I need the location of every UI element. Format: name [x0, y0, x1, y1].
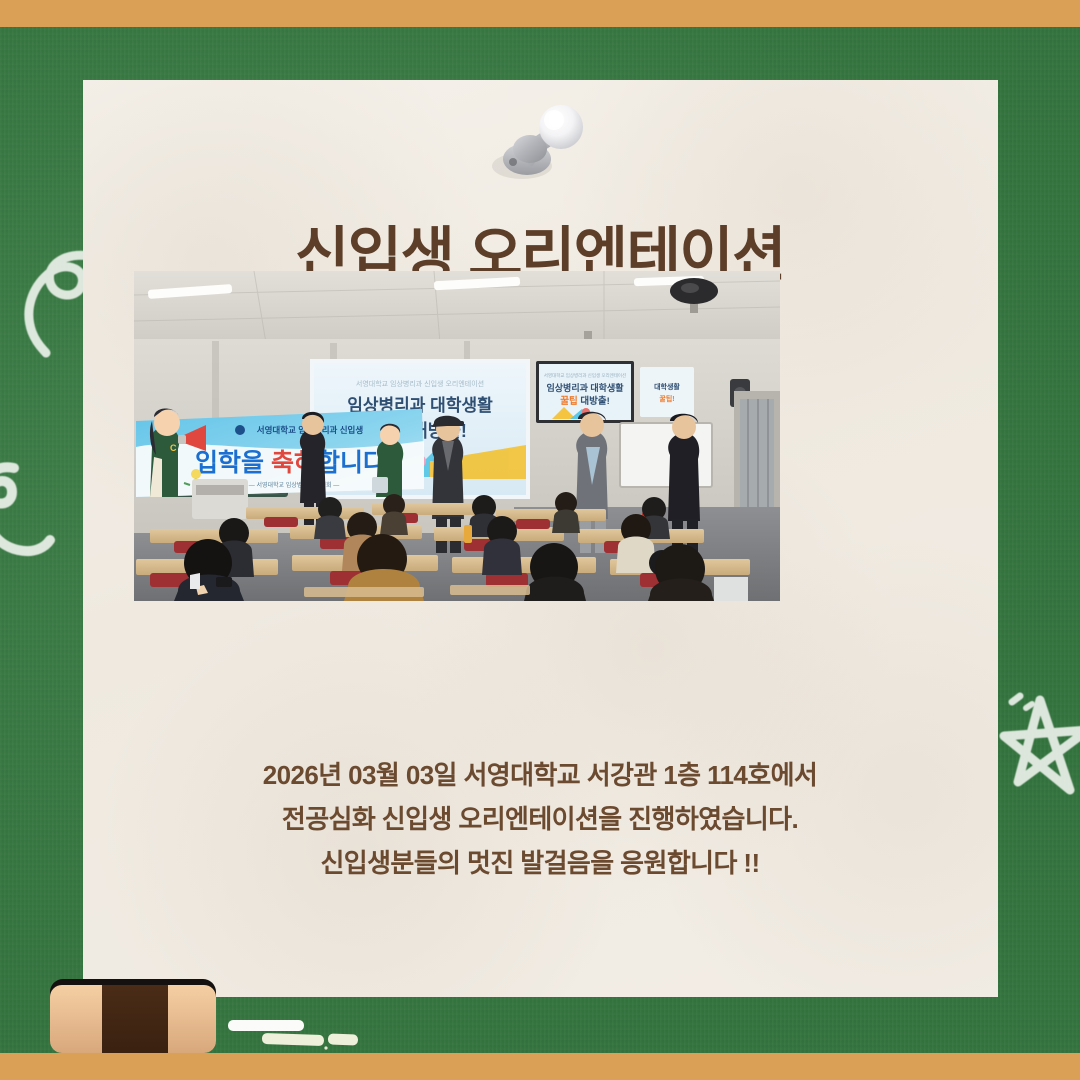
event-photo: 서영대학교 임상병리과 신입생 오리엔테이션 임상병리과 대학생활 꿀팁 대방출… — [134, 271, 780, 601]
svg-text:꿀팁!: 꿀팁! — [659, 394, 674, 403]
top-accent-bar — [0, 0, 1080, 27]
caption-line-3: 신입생분들의 멋진 발걸음을 응원합니다 !! — [0, 850, 1080, 876]
caption-line-1: 2026년 03월 03일 서영대학교 서강관 1층 114호에서 — [0, 762, 1080, 788]
svg-text:임상병리과 대학생활: 임상병리과 대학생활 — [546, 382, 624, 393]
poster-canvas: 신입생 오리엔테이션 — [0, 0, 1080, 1080]
svg-text:서영대학교 임상병리과 신입생 오리엔테이션: 서영대학교 임상병리과 신입생 오리엔테이션 — [544, 372, 626, 379]
svg-text:입학을 축하합니다.: 입학을 축하합니다. — [195, 449, 393, 477]
svg-text:꿀팁 대방출!: 꿀팁 대방출! — [560, 395, 610, 407]
caption-line-2: 전공심화 신입생 오리엔테이션을 진행하였습니다. — [0, 806, 1080, 832]
svg-text:대학생활: 대학생활 — [654, 382, 680, 391]
chalk-sticks-icon — [228, 1018, 360, 1052]
spotlight-lamp-icon — [486, 104, 596, 194]
bottom-accent-bar — [0, 1053, 1080, 1080]
blackboard-eraser-icon — [50, 979, 216, 1053]
svg-text:— 서영대학교 임상병리과 학생회 —: — 서영대학교 임상병리과 학생회 — — [249, 481, 339, 489]
svg-text:C: C — [170, 443, 177, 453]
svg-text:서영대학교 임상병리과 신입생 오리엔테이션: 서영대학교 임상병리과 신입생 오리엔테이션 — [356, 379, 484, 388]
chalk-spark-icon — [1006, 690, 1046, 730]
caption-block: 2026년 03월 03일 서영대학교 서강관 1층 114호에서 전공심화 신… — [0, 762, 1080, 876]
